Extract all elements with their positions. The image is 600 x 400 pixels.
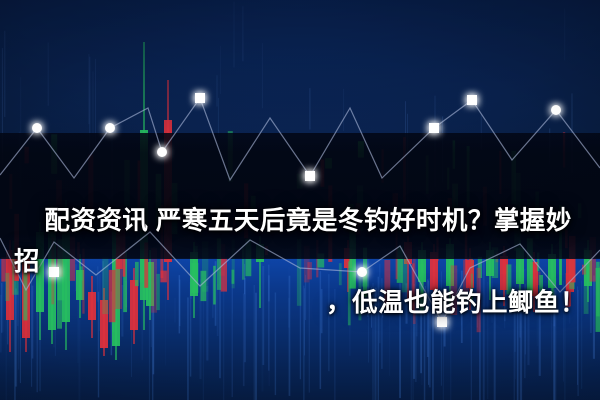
banner-image: 配资资讯 严寒五天后竟是冬钓好时机？掌握妙招，低温也能钓上鲫鱼！: [0, 0, 600, 400]
headline-line-1: 配资资讯 严寒五天后竟是冬钓好时机？掌握妙招: [14, 207, 572, 276]
headline-line-2: ，低温也能钓上鲫鱼！: [14, 283, 586, 324]
page-title: 配资资讯 严寒五天后竟是冬钓好时机？掌握妙招，低温也能钓上鲫鱼！: [14, 160, 586, 400]
